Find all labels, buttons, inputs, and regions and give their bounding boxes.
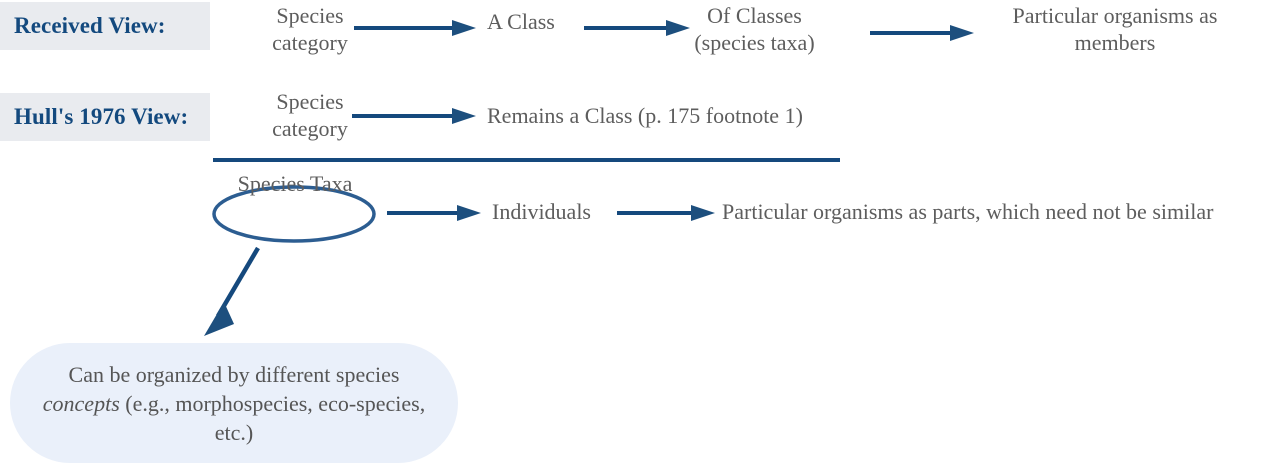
row-label-hulls-1976-view: Hull's 1976 View: <box>0 93 210 141</box>
arrow-taxa-to-individuals <box>385 203 485 223</box>
node-received-a-class: A Class <box>487 8 597 35</box>
arrow-received-3 <box>868 23 978 43</box>
species-taxa-diagram: Received View: Species category A Class … <box>0 0 1283 473</box>
row-label-received-view: Received View: <box>0 2 210 50</box>
arrow-hull-1 <box>350 106 480 126</box>
concepts-emphasis: concepts <box>43 391 120 416</box>
node-received-of-classes: Of Classes (species taxa) <box>672 2 837 56</box>
ellipse-species-taxa-label: Species Taxa <box>210 171 380 197</box>
arrow-received-1 <box>352 18 480 38</box>
concepts-bubble-text: Can be organized by different species co… <box>10 360 458 447</box>
concepts-bubble: Can be organized by different species co… <box>10 343 458 463</box>
concepts-line-2-rest: (e.g., morphospecies, eco- <box>120 391 356 416</box>
concepts-line-1: Can be organized by different species <box>69 362 400 387</box>
node-received-species-category: Species category <box>255 2 365 56</box>
arrow-individuals-to-organisms <box>615 203 720 223</box>
arrow-taxa-to-concepts <box>190 240 300 345</box>
node-hull-remains-a-class: Remains a Class (p. 175 footnote 1) <box>487 102 907 129</box>
node-hull-species-category: Species category <box>255 88 365 142</box>
node-particular-organisms-parts: Particular organisms as parts, which nee… <box>722 198 1282 225</box>
section-divider <box>213 158 840 162</box>
node-received-particular-organisms-members: Particular organisms as members <box>995 2 1235 56</box>
